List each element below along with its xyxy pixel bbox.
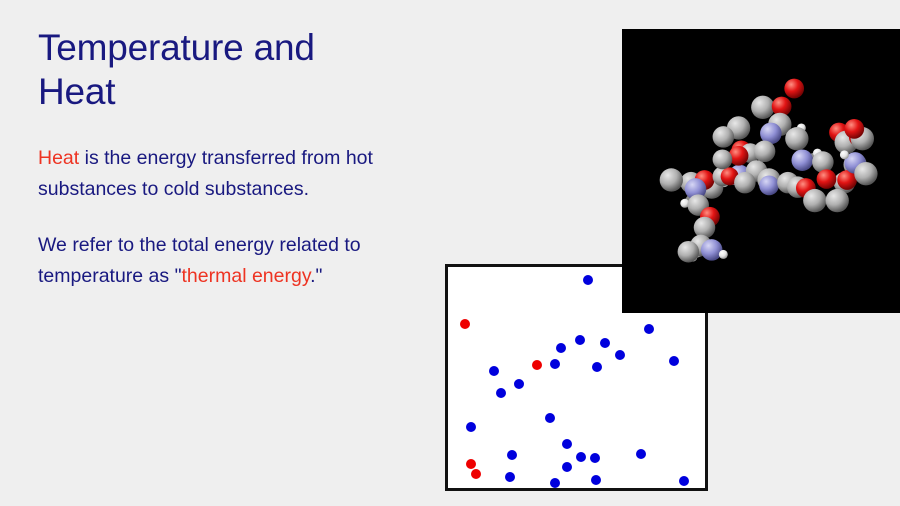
atom-nitrogen	[791, 149, 813, 171]
atom-carbon	[713, 126, 735, 148]
particle-cold	[592, 362, 602, 372]
atom-carbon	[713, 149, 733, 169]
atom-carbon	[678, 241, 700, 263]
atom-nitrogen	[701, 239, 723, 261]
atom-carbon	[754, 141, 776, 163]
atom-carbon	[812, 151, 834, 173]
particle-cold	[615, 350, 625, 360]
particle-cold	[600, 338, 610, 348]
atom-carbon	[803, 189, 826, 212]
particle-hot	[471, 469, 481, 479]
atom-oxygen	[817, 169, 837, 189]
particle-cold	[550, 478, 560, 488]
particle-cold	[562, 462, 572, 472]
particle-hot	[460, 319, 470, 329]
paragraph-thermal-tail: ."	[310, 265, 322, 287]
particle-cold	[679, 476, 689, 486]
ball-and-stick-molecule-image	[622, 29, 900, 313]
particle-cold	[583, 275, 593, 285]
atom-hydrogen	[840, 150, 849, 159]
atom-carbon	[660, 168, 683, 191]
particle-cold	[466, 422, 476, 432]
atom-nitrogen	[759, 175, 779, 195]
particle-cold	[644, 324, 654, 334]
particle-hot	[466, 459, 476, 469]
particle-cold	[545, 413, 555, 423]
atom-carbon	[785, 127, 808, 150]
atom-carbon	[751, 96, 774, 119]
atom-carbon	[694, 217, 716, 239]
molecule-atom-group	[660, 79, 878, 263]
atom-carbon	[854, 162, 877, 185]
text-column: Temperature and Heat Heat is the energy …	[38, 26, 398, 292]
atom-carbon	[826, 189, 849, 212]
highlight-thermal-energy: thermal energy	[182, 265, 311, 287]
particle-cold	[562, 439, 572, 449]
particle-cold	[514, 379, 524, 389]
particle-cold	[636, 449, 646, 459]
paragraph-heat-rest: is the energy transferred from hot subst…	[38, 147, 373, 200]
particle-cold	[591, 475, 601, 485]
atom-carbon	[734, 172, 756, 194]
particle-cold	[507, 450, 517, 460]
particle-hot	[532, 360, 542, 370]
particle-cold	[669, 356, 679, 366]
particle-cold	[590, 453, 600, 463]
atom-oxygen	[784, 79, 804, 99]
paragraph-heat-definition: Heat is the energy transferred from hot …	[38, 143, 398, 205]
molecule-svg	[622, 29, 900, 313]
particle-cold	[505, 472, 515, 482]
slide-canvas: Temperature and Heat Heat is the energy …	[0, 0, 900, 506]
particle-cold	[550, 359, 560, 369]
atom-oxygen	[844, 119, 864, 139]
particle-cold	[496, 388, 506, 398]
highlight-heat: Heat	[38, 147, 79, 169]
paragraph-thermal-energy: We refer to the total energy related to …	[38, 230, 398, 292]
particle-cold	[575, 335, 585, 345]
particle-cold	[489, 366, 499, 376]
page-title: Temperature and Heat	[38, 26, 398, 114]
particle-cold	[576, 452, 586, 462]
atom-hydrogen	[719, 250, 728, 259]
particle-cold	[556, 343, 566, 353]
